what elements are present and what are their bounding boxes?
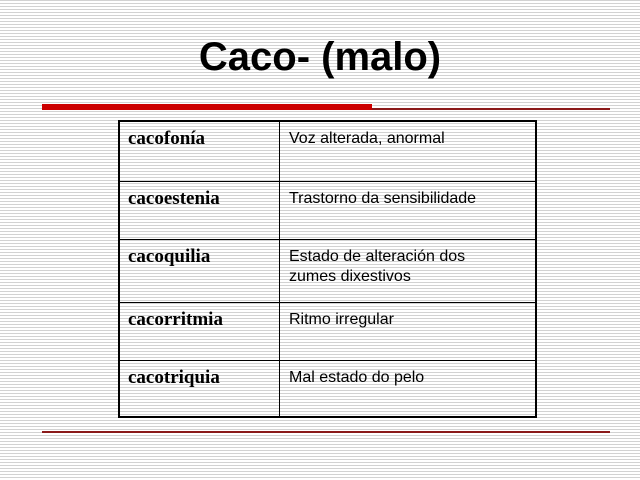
definition-cell: Estado de alteración dos zumes dixestivo… xyxy=(280,240,537,302)
footer-divider xyxy=(42,431,610,433)
definition-line: zumes dixestivos xyxy=(289,267,529,287)
table-row: cacorritmia Ritmo irregular xyxy=(119,302,536,360)
vocabulary-table: cacofonía Voz alterada, anormal cacoeste… xyxy=(118,120,537,418)
definition-line: Mal estado do pelo xyxy=(289,368,529,388)
definition-line: Voz alterada, anormal xyxy=(289,129,529,149)
divider-accent-bar xyxy=(42,104,372,110)
term-cell: cacorritmia xyxy=(119,302,280,360)
slide-canvas: Caco- (malo) cacofonía Voz alterada, ano… xyxy=(0,0,640,480)
term-cell: cacoestenia xyxy=(119,181,280,239)
table-row: cacofonía Voz alterada, anormal xyxy=(119,121,536,181)
definition-line: Trastorno da sensibilidade xyxy=(289,189,529,209)
term-cell: cacotriquia xyxy=(119,361,280,417)
definition-cell: Trastorno da sensibilidade xyxy=(280,181,537,239)
term-cell: cacofonía xyxy=(119,121,280,181)
table-row: cacoestenia Trastorno da sensibilidade xyxy=(119,181,536,239)
page-title: Caco- (malo) xyxy=(0,34,640,80)
term-cell: cacoquilia xyxy=(119,240,280,302)
table-body: cacofonía Voz alterada, anormal cacoeste… xyxy=(119,121,536,417)
definition-cell: Ritmo irregular xyxy=(280,302,537,360)
title-divider-top xyxy=(42,104,610,110)
divider-thin-rule xyxy=(372,108,610,110)
definition-cell: Mal estado do pelo xyxy=(280,361,537,417)
definition-line: Ritmo irregular xyxy=(289,310,529,330)
table-row: cacotriquia Mal estado do pelo xyxy=(119,361,536,417)
definition-cell: Voz alterada, anormal xyxy=(280,121,537,181)
definition-line: Estado de alteración dos xyxy=(289,247,529,267)
table-row: cacoquilia Estado de alteración dos zume… xyxy=(119,240,536,302)
